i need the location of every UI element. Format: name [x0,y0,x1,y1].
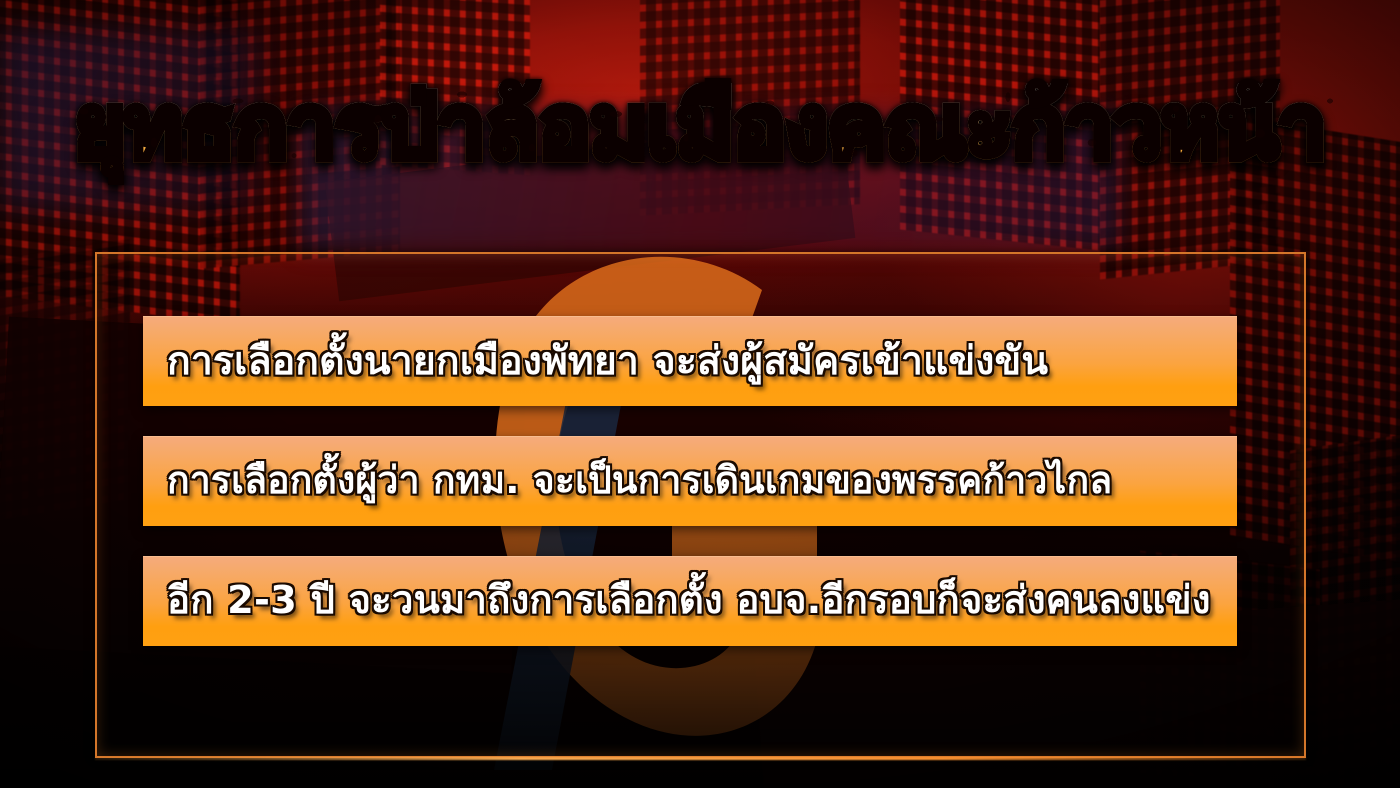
bullet-text: การเลือกตั้งผู้ว่า กทม. จะเป็นการเดินเกม… [167,462,1112,499]
broadcast-graphic-slide: ยุทธการป่าล้อมเมืองคณะก้าวหน้า การเลือกต… [0,0,1400,788]
list-item: อีก 2-3 ปี จะวนมาถึงการเลือกตั้ง อบจ.อีก… [143,556,1237,646]
page-title: ยุทธการป่าล้อมเมืองคณะก้าวหน้า [74,83,1326,171]
bullet-text: อีก 2-3 ปี จะวนมาถึงการเลือกตั้ง อบจ.อีก… [167,582,1211,620]
list-item: การเลือกตั้งผู้ว่า กทม. จะเป็นการเดินเกม… [143,436,1237,526]
page-title-container: ยุทธการป่าล้อมเมืองคณะก้าวหน้า [0,62,1400,192]
bullet-bar-list: การเลือกตั้งนายกเมืองพัทยา จะส่งผู้สมัคร… [143,316,1237,646]
bullet-text: การเลือกตั้งนายกเมืองพัทยา จะส่งผู้สมัคร… [167,342,1048,381]
list-item: การเลือกตั้งนายกเมืองพัทยา จะส่งผู้สมัคร… [143,316,1237,406]
